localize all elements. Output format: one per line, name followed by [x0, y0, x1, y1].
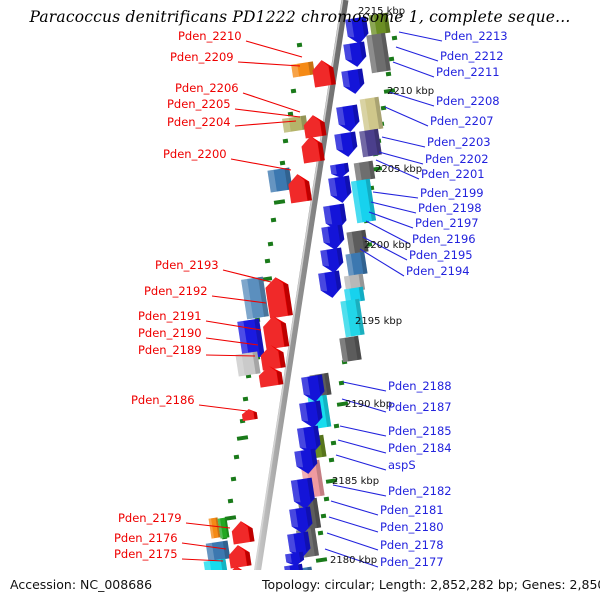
gene-label-left[interactable]: Pden_2175	[114, 547, 178, 561]
gene-label-left[interactable]: Pden_2191	[138, 309, 202, 323]
scale-tick	[321, 514, 327, 519]
gene-label-right[interactable]: Pden_2196	[412, 232, 476, 246]
gene-feature-box[interactable]	[241, 277, 269, 320]
gene-feature-box[interactable]	[359, 129, 382, 158]
gene-feature-box[interactable]	[345, 252, 367, 277]
leader-line	[329, 517, 378, 532]
gene-label-left[interactable]: Pden_2176	[114, 531, 178, 545]
gene-label-right[interactable]: Pden_2208	[436, 94, 500, 108]
gene-label-right[interactable]: Pden_2194	[406, 264, 470, 278]
scale-label: 2180 kbp	[330, 555, 377, 566]
gene-label-left[interactable]: Pden_2186	[131, 393, 195, 407]
gene-label-right[interactable]: aspS	[388, 458, 416, 472]
scale-tick	[280, 161, 286, 166]
leader-line	[238, 62, 300, 66]
leader-line	[343, 382, 386, 391]
gene-label-left[interactable]: Pden_2189	[138, 343, 202, 357]
gene-label-left[interactable]: Pden_2206	[175, 81, 239, 95]
gene-label-left[interactable]: Pden_2193	[155, 258, 219, 272]
gene-label-left[interactable]: Pden_2209	[170, 50, 234, 64]
leader-line	[199, 405, 247, 411]
gene-label-right[interactable]: Pden_2182	[388, 484, 452, 498]
leader-line	[393, 62, 434, 77]
scale-label: 2210 kbp	[387, 86, 434, 97]
scale-tick	[316, 557, 327, 563]
scale-tick	[334, 424, 340, 429]
leader-line	[399, 32, 442, 41]
accession-text: Accession: NC_008686	[10, 577, 152, 592]
gene-label-right[interactable]: Pden_2207	[430, 114, 494, 128]
leader-line	[340, 426, 386, 436]
gene-label-right[interactable]: Pden_2212	[440, 49, 504, 63]
gene-label-right[interactable]: Pden_2213	[444, 29, 508, 43]
gene-feature-forward-arrow[interactable]	[336, 105, 361, 134]
gene-feature-forward-arrow[interactable]	[334, 132, 358, 159]
leader-line	[331, 501, 378, 515]
gene-feature-forward-arrow[interactable]	[321, 225, 345, 252]
gene-feature-reverse-arrow[interactable]	[287, 173, 312, 204]
gene-label-right[interactable]: Pden_2197	[415, 216, 479, 230]
leader-line	[327, 533, 378, 550]
gene-feature-forward-arrow[interactable]	[343, 42, 367, 69]
scale-label: 2190 kbp	[345, 399, 392, 410]
scale-tick	[291, 89, 297, 94]
page-title: Paracoccus denitrificans PD1222 chromoso…	[0, 8, 600, 26]
scale-tick	[234, 455, 240, 460]
scale-tick	[265, 259, 271, 264]
scale-tick	[237, 435, 248, 441]
scale-tick	[231, 477, 237, 482]
gene-feature-box[interactable]	[282, 115, 308, 132]
gene-label-right[interactable]: Pden_2199	[420, 186, 484, 200]
gene-label-right[interactable]: Pden_2180	[380, 520, 444, 534]
scale-tick	[331, 441, 337, 446]
gene-label-left[interactable]: Pden_2205	[167, 97, 231, 111]
gene-label-left[interactable]: Pden_2192	[144, 284, 208, 298]
leader-line	[396, 47, 438, 61]
scale-tick	[381, 106, 387, 111]
leader-line	[243, 93, 300, 112]
scale-tick	[271, 218, 277, 223]
scale-tick	[324, 497, 330, 502]
scale-tick	[389, 57, 395, 62]
leader-line	[371, 202, 416, 213]
scale-tick	[243, 397, 249, 402]
leader-line	[385, 107, 428, 126]
gene-label-left[interactable]: Pden_2190	[138, 326, 202, 340]
gene-label-right[interactable]: Pden_2198	[418, 201, 482, 215]
leader-line	[338, 440, 386, 453]
scale-label: 2200 kbp	[364, 240, 411, 251]
scale-label: 2205 kbp	[375, 164, 422, 175]
scale-tick	[283, 139, 289, 144]
gene-label-right[interactable]: Pden_2187	[388, 400, 452, 414]
gene-feature-box[interactable]	[291, 61, 315, 77]
gene-feature-box[interactable]	[351, 179, 376, 223]
gene-feature-forward-arrow[interactable]	[328, 176, 353, 205]
gene-label-right[interactable]: Pden_2211	[436, 65, 500, 79]
leader-line	[336, 455, 386, 470]
gene-feature-box[interactable]	[360, 97, 384, 132]
gene-feature-box[interactable]	[354, 161, 376, 182]
gene-feature-forward-arrow[interactable]	[341, 69, 365, 96]
scale-label: 2185 kbp	[332, 476, 379, 487]
gene-feature-reverse-arrow[interactable]	[264, 275, 293, 318]
gene-label-right[interactable]: Pden_2184	[388, 441, 452, 455]
gene-label-left[interactable]: Pden_2210	[178, 29, 242, 43]
gene-feature-box[interactable]	[206, 540, 230, 561]
scale-tick	[274, 199, 285, 205]
gene-label-right[interactable]: Pden_2177	[380, 555, 444, 569]
scale-tick	[392, 36, 398, 41]
leader-line	[246, 41, 302, 57]
gene-label-right[interactable]: Pden_2203	[427, 135, 491, 149]
scale-tick	[228, 499, 234, 504]
scale-tick	[297, 43, 303, 48]
scale-tick	[318, 531, 324, 536]
gene-feature-reverse-arrow[interactable]	[241, 408, 257, 421]
genome-map-viewer[interactable]: Paracoccus denitrificans PD1222 chromoso…	[0, 0, 600, 600]
gene-feature-box[interactable]	[339, 336, 361, 363]
gene-label-left[interactable]: Pden_2200	[163, 147, 227, 161]
gene-feature-reverse-arrow[interactable]	[230, 520, 254, 545]
status-bar: Accession: NC_008686 Topology: circular;…	[0, 570, 600, 600]
genome-diagram-canvas[interactable]	[0, 0, 600, 600]
topology-text: Topology: circular; Length: 2,852,282 bp…	[262, 577, 600, 592]
gene-label-right[interactable]: Pden_2185	[388, 424, 452, 438]
leader-line	[382, 137, 425, 147]
scale-label: 2195 kbp	[355, 316, 402, 327]
gene-feature-forward-arrow[interactable]	[320, 248, 344, 275]
gene-feature-box[interactable]	[366, 33, 391, 73]
gene-label-left[interactable]: Pden_2204	[167, 115, 231, 129]
gene-label-right[interactable]: Pden_2188	[388, 379, 452, 393]
gene-label-left[interactable]: Pden_2179	[118, 511, 182, 525]
gene-label-right[interactable]: Pden_2195	[409, 248, 473, 262]
leader-line	[379, 152, 423, 164]
gene-label-right[interactable]: Pden_2201	[421, 167, 485, 181]
leader-line	[373, 192, 418, 198]
scale-tick	[386, 72, 392, 77]
gene-feature-forward-arrow[interactable]	[318, 271, 343, 300]
gene-feature-reverse-arrow[interactable]	[262, 314, 290, 349]
gene-feature-reverse-arrow[interactable]	[227, 544, 251, 569]
scale-tick	[329, 458, 335, 463]
gene-label-right[interactable]: Pden_2178	[380, 538, 444, 552]
gene-label-right[interactable]: Pden_2202	[425, 152, 489, 166]
scale-tick	[268, 242, 274, 247]
gene-feature-box[interactable]	[267, 167, 292, 192]
scale-tick	[339, 381, 345, 386]
gene-label-right[interactable]: Pden_2181	[380, 503, 444, 517]
